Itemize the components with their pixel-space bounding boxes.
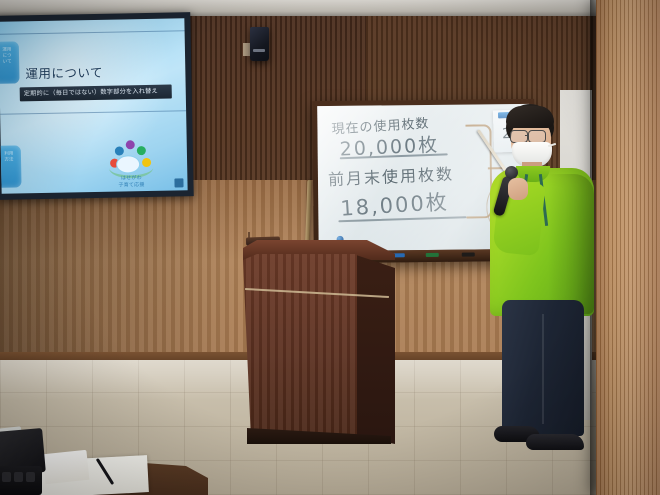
device-key-3[interactable] — [26, 472, 35, 482]
trouser-seam — [542, 314, 544, 424]
slide-logo: はせがわ 子育て応援 — [105, 141, 158, 194]
presenter-hair-front — [506, 106, 554, 128]
slide-sidebar-tab-1-label: 運用について — [2, 47, 12, 65]
marker-green — [426, 253, 439, 257]
logo-dot-purple — [126, 140, 135, 149]
presentation-room-photo: 運用について 利用方法 運用について 定期的に（毎日ではない）数字部分を入れ替え — [0, 0, 660, 495]
wall-shadow — [0, 180, 240, 360]
screen-glow — [0, 18, 188, 194]
speaker-badge — [253, 49, 265, 52]
wall-speaker-icon — [250, 27, 269, 61]
slide-subtitle-bar: 定期的に（毎日ではない）数字部分を入れ替え — [20, 85, 172, 102]
presenter — [490, 104, 598, 456]
table-device-keys — [0, 466, 42, 495]
device-key-2[interactable] — [14, 472, 23, 482]
presenter-hand — [508, 178, 528, 200]
marker-black-2 — [462, 252, 475, 256]
wood-pillar — [596, 0, 660, 495]
slide-page-marker — [174, 178, 183, 187]
slide-sidebar-tab-1[interactable]: 運用について — [0, 41, 20, 83]
slide-subtitle-text: 定期的に（毎日ではない）数字部分を入れ替え — [24, 86, 158, 101]
lectern-side — [353, 254, 395, 444]
slide-title: 運用について — [25, 62, 103, 82]
slide-sidebar-tab-2-label: 利用方法 — [4, 151, 14, 163]
projection-screen: 運用について 利用方法 運用について 定期的に（毎日ではない）数字部分を入れ替え — [0, 12, 194, 200]
lectern-front — [243, 254, 357, 440]
presenter-shoe-right — [526, 434, 584, 450]
slide-sidebar-tab-2[interactable]: 利用方法 — [0, 145, 22, 187]
projected-slide: 運用について 利用方法 運用について 定期的に（毎日ではない）数字部分を入れ替え — [0, 18, 188, 194]
glasses-bridge — [525, 135, 529, 136]
logo-dot-blue — [115, 146, 124, 155]
logo-dot-green — [137, 146, 146, 155]
lectern — [243, 240, 395, 448]
table-paper-folded — [43, 450, 90, 484]
logo-text-line2: 子育て応援 — [105, 182, 157, 190]
jacket-shading — [548, 174, 594, 314]
device-key-1[interactable] — [2, 472, 11, 482]
